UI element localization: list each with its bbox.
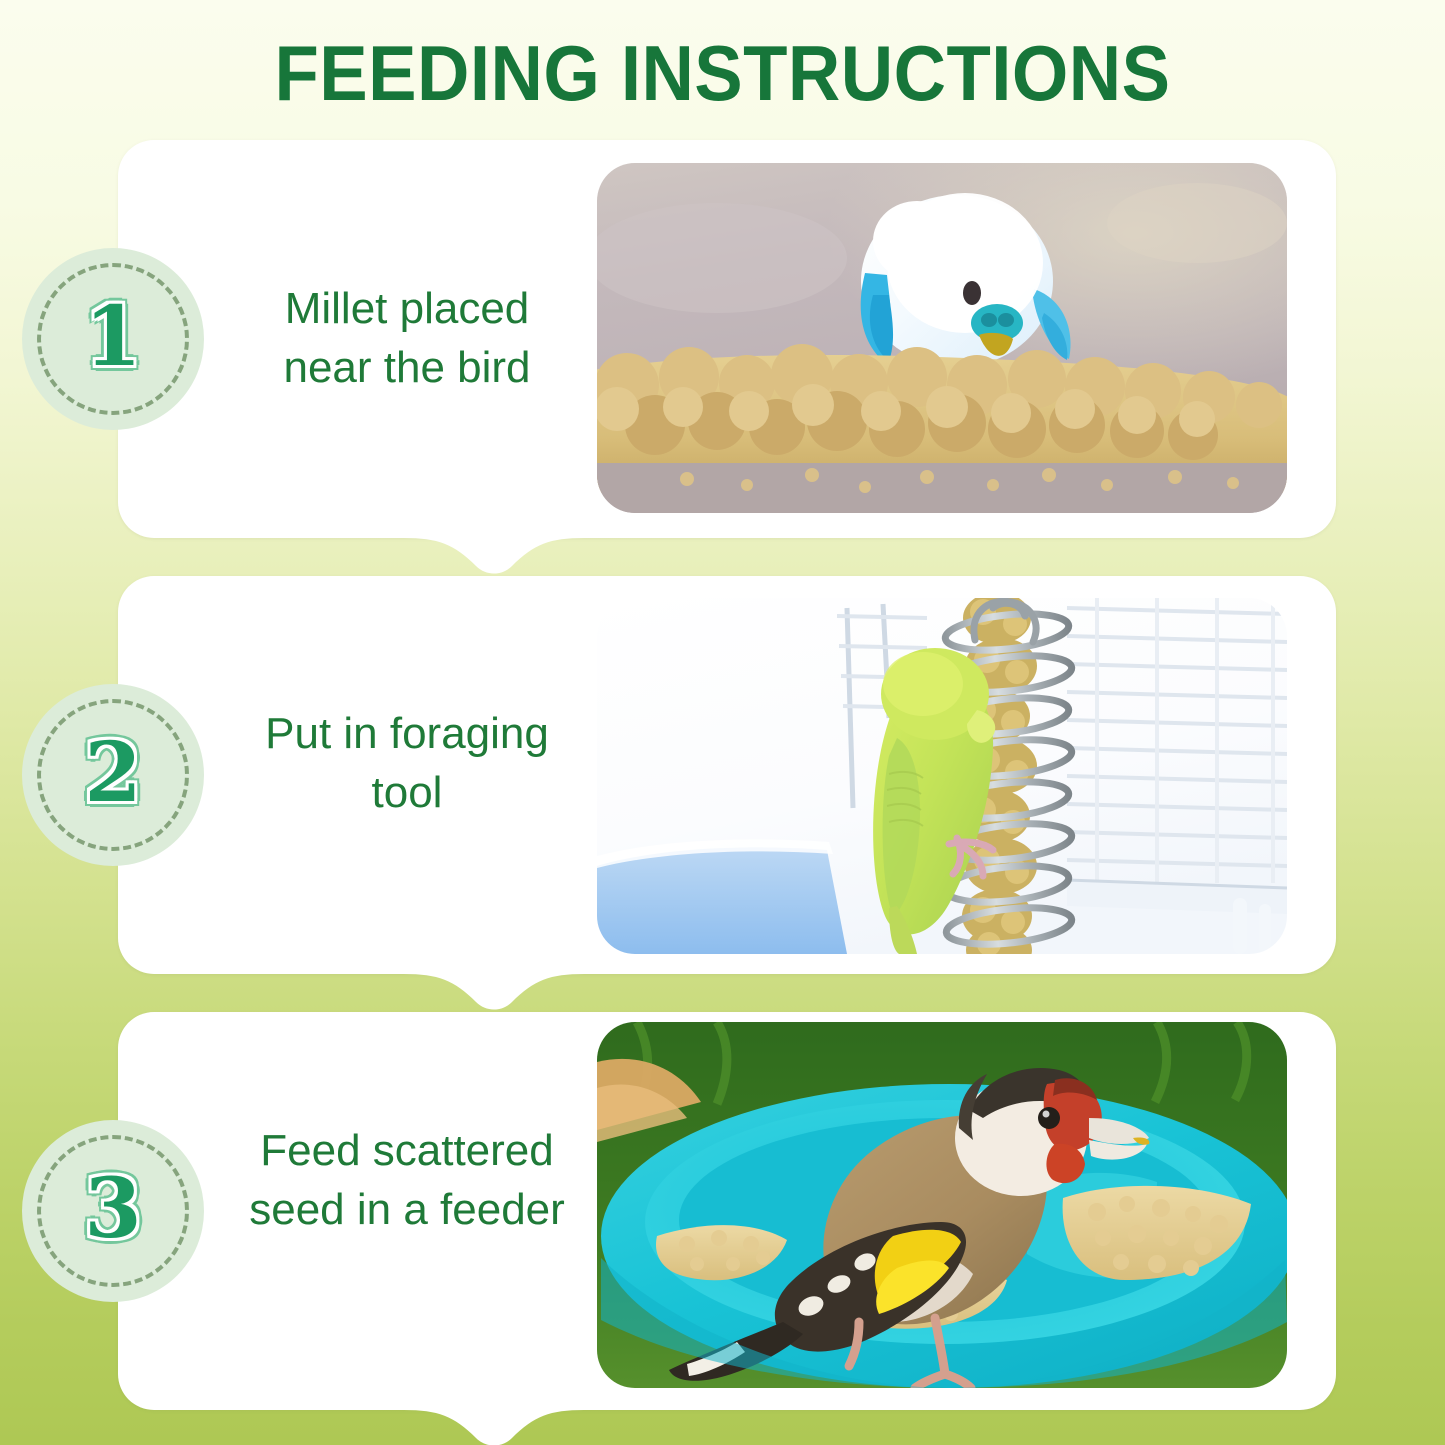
step-label-2: Put in foraging tool (212, 705, 602, 822)
step-label-1-line-1: Millet placed (212, 280, 602, 339)
step-label-1-line-2: near the bird (212, 339, 602, 398)
step-number-1: 1 (84, 296, 141, 378)
step-photo-2 (597, 598, 1287, 954)
step-label-3-line-2: seed in a feeder (212, 1181, 602, 1240)
card-connector-tail-3 (404, 1410, 584, 1445)
step-number-2: 2 (84, 732, 141, 814)
step-label-3: Feed scattered seed in a feeder (212, 1122, 602, 1239)
step-badge-1: 1 (22, 248, 204, 430)
card-connector-tail-2 (404, 974, 584, 1016)
step-label-3-line-1: Feed scattered (212, 1122, 602, 1181)
feeding-instructions-poster: FEEDING INSTRUCTIONS 1 Millet placed nea… (0, 0, 1445, 1445)
step-photo-3 (597, 1022, 1287, 1388)
step-photo-1 (597, 163, 1287, 513)
step-number-3: 3 (84, 1168, 141, 1250)
step-label-1: Millet placed near the bird (212, 280, 602, 397)
page-title: FEEDING INSTRUCTIONS (51, 34, 1395, 112)
step-badge-2: 2 (22, 684, 204, 866)
step-badge-3: 3 (22, 1120, 204, 1302)
step-label-2-line-2: tool (212, 764, 602, 823)
step-label-2-line-1: Put in foraging (212, 705, 602, 764)
card-connector-tail-1 (404, 538, 584, 580)
